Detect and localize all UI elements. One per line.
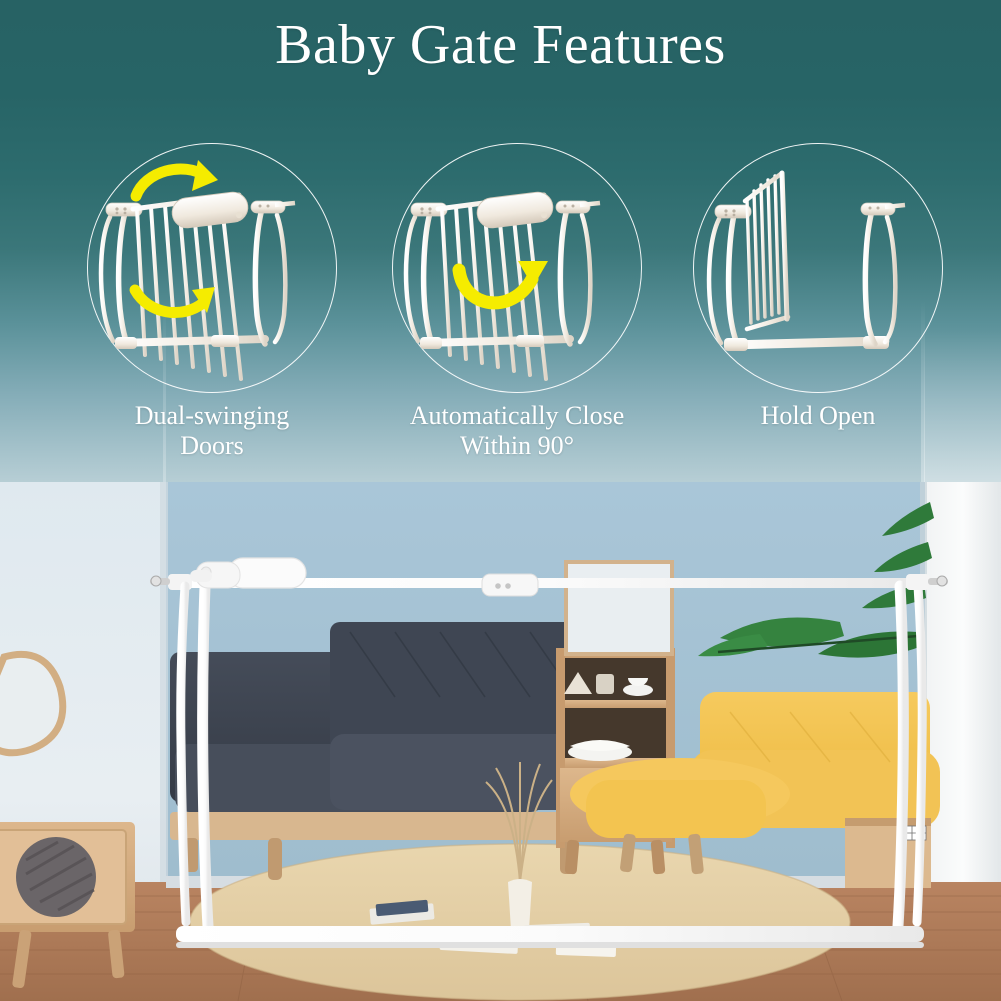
room-scene-illustration — [0, 482, 1001, 1001]
feature-item-automatically-close: Automatically Close Within 90° — [392, 143, 642, 393]
feature-label: Automatically Close Within 90° — [357, 401, 677, 461]
wall-mirror — [0, 654, 63, 752]
rotation-arrow-bottom — [135, 287, 215, 313]
gate-auto-close-icon — [384, 143, 650, 393]
lock-handle — [170, 190, 249, 229]
hinge-right — [861, 203, 905, 215]
infographic-canvas: Baby Gate Features — [0, 0, 1001, 1001]
framed-art — [566, 562, 672, 654]
room-photo — [0, 482, 1001, 1001]
page-title: Baby Gate Features — [0, 14, 1001, 76]
feature-label-line-1: Hold Open — [761, 401, 876, 430]
feature-item-dual-swinging-doors: Dual-swinging Doors — [87, 143, 337, 393]
feature-item-hold-open: Hold Open — [693, 143, 943, 393]
feature-label-line-1: Automatically Close — [410, 401, 624, 430]
feature-label-line-1: Dual-swinging — [135, 401, 290, 430]
gate-dual-swing-icon — [79, 143, 345, 393]
hinge-right — [251, 201, 295, 213]
feature-label-line-2: Within 90° — [460, 431, 574, 460]
gate-hold-open-icon — [685, 143, 951, 393]
feature-label: Hold Open — [658, 401, 978, 431]
feature-label: Dual-swinging Doors — [52, 401, 372, 461]
gate-lock-handle — [190, 558, 306, 588]
hinge-right — [556, 201, 600, 213]
feature-label-line-2: Doors — [180, 431, 244, 460]
lock-handle — [475, 190, 554, 229]
gate-hinge-center — [482, 574, 538, 596]
rotation-arrow-top — [136, 160, 218, 196]
